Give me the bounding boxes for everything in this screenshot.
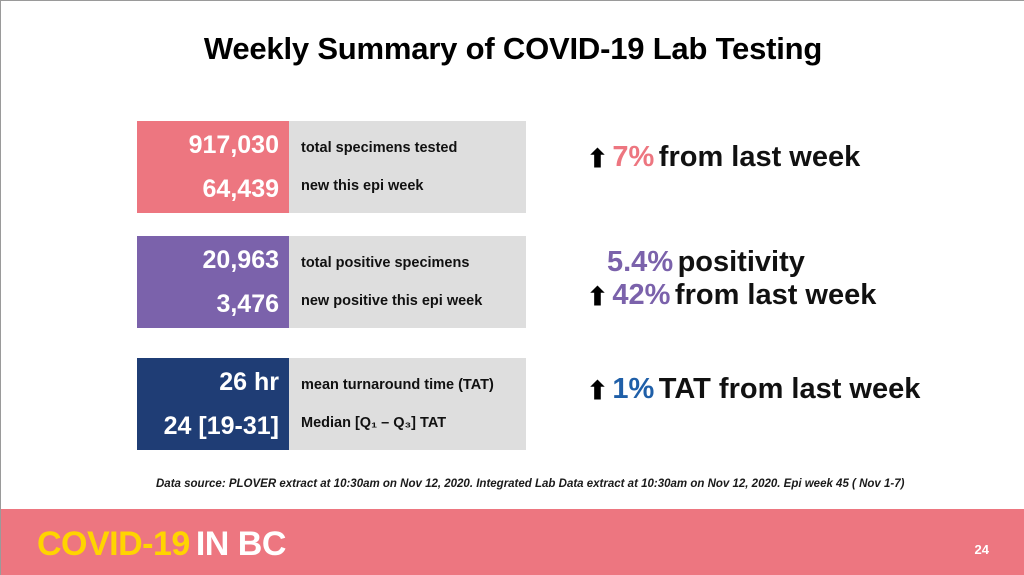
arrow-up-icon: ⬆ [587,282,608,312]
stat-row: 26 hr 24 [19-31] mean turnaround time (T… [137,358,526,450]
stat-label-primary: total positive specimens [301,256,526,271]
stat-label-primary: total specimens tested [301,141,526,156]
comparison-positivity-change: ⬆ 42% from last week [587,279,876,312]
arrow-up-icon: ⬆ [587,144,608,174]
comparison-specimens: ⬆ 7% from last week [587,141,860,174]
stat-value-block-tat: 26 hr 24 [19-31] [137,358,289,450]
stat-label-secondary: new positive this epi week [301,294,526,309]
comparison-text: from last week [675,279,876,311]
comparison-positivity-rate: 5.4% positivity [607,246,805,279]
comparison-value: 1% [612,373,654,405]
stat-label-secondary: Median [Q₁ – Q₃] TAT [301,416,526,431]
stat-label-block-tat: mean turnaround time (TAT) Median [Q₁ – … [289,358,526,450]
comparison-value: 7% [612,141,654,173]
comparison-text: from last week [659,141,860,173]
stat-label-primary: mean turnaround time (TAT) [301,378,526,393]
brand-logo: COVID-19IN BC [37,525,286,564]
stat-value-secondary: 64,439 [203,177,279,202]
comparison-text: TAT from last week [659,373,921,405]
data-source-footnote: Data source: PLOVER extract at 10:30am o… [156,478,904,490]
stat-row: 20,963 3,476 total positive specimens ne… [137,236,526,328]
stat-label-block-specimens: total specimens tested new this epi week [289,121,526,213]
stat-value-secondary: 24 [19-31] [164,414,279,439]
page-number: 24 [975,542,989,557]
arrow-up-icon: ⬆ [587,376,608,406]
stat-label-block-positives: total positive specimens new positive th… [289,236,526,328]
comparison-value: 5.4% [607,246,673,278]
stat-value-primary: 26 hr [219,370,279,395]
stat-value-primary: 917,030 [189,133,279,158]
stat-value-block-specimens: 917,030 64,439 [137,121,289,213]
stat-value-primary: 20,963 [203,248,279,273]
page-title: Weekly Summary of COVID-19 Lab Testing [1,31,1024,67]
footer-banner: COVID-19IN BC 24 [1,509,1024,575]
brand-covid-text: COVID-19 [37,525,190,563]
stat-label-secondary: new this epi week [301,179,526,194]
slide: Weekly Summary of COVID-19 Lab Testing 9… [0,0,1024,575]
stat-value-secondary: 3,476 [216,292,279,317]
comparison-text: positivity [678,246,805,278]
stat-value-block-positives: 20,963 3,476 [137,236,289,328]
comparison-tat: ⬆ 1% TAT from last week [587,373,920,406]
stat-row: 917,030 64,439 total specimens tested ne… [137,121,526,213]
comparison-value: 42% [612,279,670,311]
brand-inbc-text: IN BC [196,525,286,563]
